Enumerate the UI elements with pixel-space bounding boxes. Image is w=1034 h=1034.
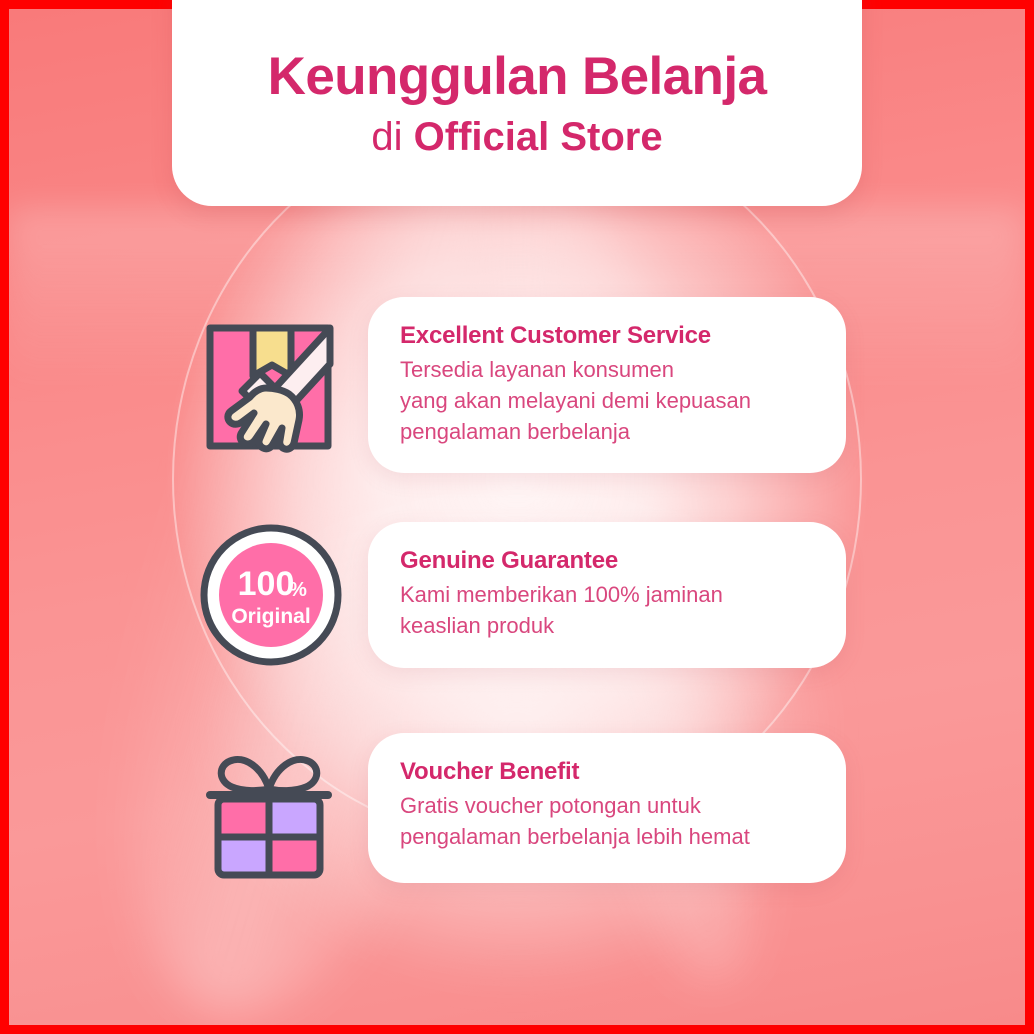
original-badge-svg: 100 % Original bbox=[198, 522, 344, 668]
feature-card-customer-service: Excellent Customer Service Tersedia laya… bbox=[368, 297, 846, 473]
feature-description: Gratis voucher potongan untuk pengalaman… bbox=[400, 790, 816, 852]
feature-desc-line: pengalaman berbelanja lebih hemat bbox=[400, 821, 816, 852]
feature-title: Genuine Guarantee bbox=[400, 546, 816, 577]
feature-desc-line: Gratis voucher potongan untuk bbox=[400, 790, 816, 821]
feature-description: Tersedia layanan konsumen yang akan mela… bbox=[400, 354, 816, 448]
handshake-box-icon bbox=[198, 312, 344, 458]
icon-slot-genuine-guarantee: 100 % Original bbox=[196, 515, 346, 675]
title-panel: Keunggulan Belanja di Official Store bbox=[172, 0, 862, 206]
icon-slot-voucher-benefit bbox=[196, 728, 346, 888]
feature-title: Excellent Customer Service bbox=[400, 321, 816, 352]
title-secondary-prefix: di bbox=[371, 115, 413, 159]
feature-card-genuine-guarantee: Genuine Guarantee Kami memberikan 100% j… bbox=[368, 522, 846, 667]
feature-row-voucher-benefit: Voucher Benefit Gratis voucher potongan … bbox=[196, 728, 846, 888]
icon-slot-customer-service bbox=[196, 310, 346, 460]
feature-description: Kami memberikan 100% jaminan keaslian pr… bbox=[400, 579, 816, 641]
feature-desc-line: Kami memberikan 100% jaminan bbox=[400, 579, 816, 610]
gift-box-icon bbox=[196, 733, 346, 883]
badge-label: Original bbox=[231, 605, 310, 628]
badge-percent-symbol: % bbox=[289, 579, 307, 601]
poster-title-secondary: di Official Store bbox=[371, 115, 662, 159]
feature-desc-line: keaslian produk bbox=[400, 610, 816, 641]
feature-desc-line: yang akan melayani demi kepuasan bbox=[400, 385, 816, 416]
badge-percent-number: 100 bbox=[238, 565, 295, 603]
poster-title-primary: Keunggulan Belanja bbox=[268, 49, 767, 105]
feature-desc-line: Tersedia layanan konsumen bbox=[400, 354, 816, 385]
original-badge-icon: 100 % Original bbox=[198, 522, 344, 668]
feature-desc-line: pengalaman berbelanja bbox=[400, 416, 816, 447]
feature-title: Voucher Benefit bbox=[400, 757, 816, 788]
feature-row-genuine-guarantee: 100 % Original Genuine Guarantee Kami me… bbox=[196, 515, 846, 675]
title-secondary-emphasis: Official Store bbox=[414, 115, 663, 159]
promo-poster: Keunggulan Belanja di Official Store Exc… bbox=[0, 0, 1034, 1034]
feature-row-customer-service: Excellent Customer Service Tersedia laya… bbox=[196, 297, 846, 473]
feature-card-voucher-benefit: Voucher Benefit Gratis voucher potongan … bbox=[368, 733, 846, 883]
